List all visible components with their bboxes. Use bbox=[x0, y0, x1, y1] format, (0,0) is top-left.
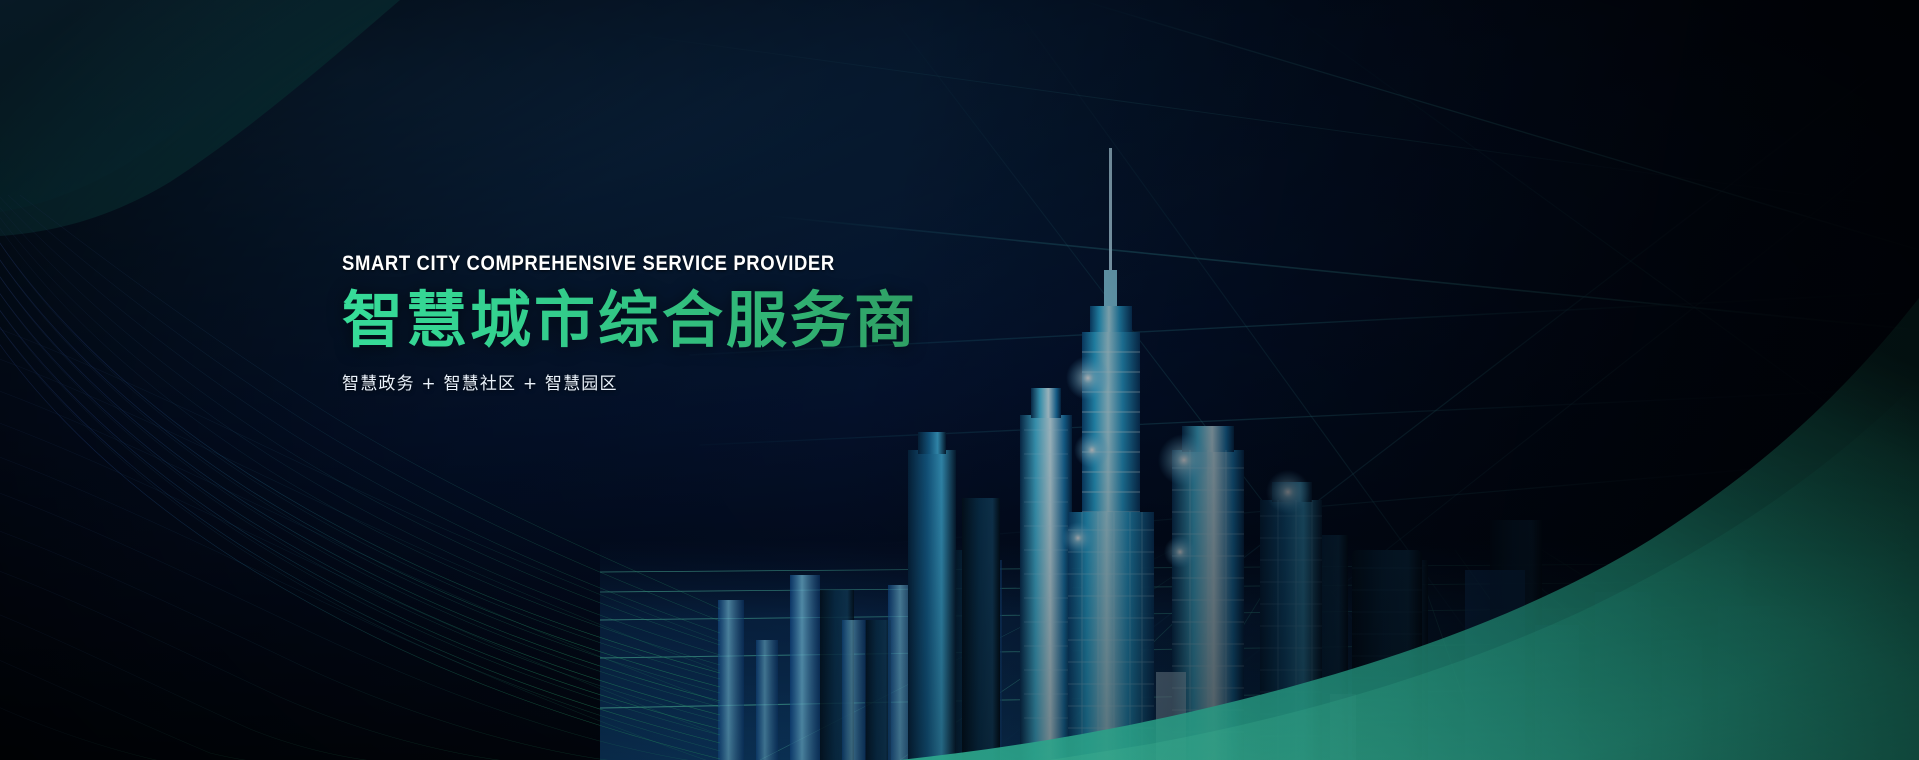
hero-headline: 智慧城市综合服务商 bbox=[342, 287, 1062, 355]
hero-eyebrow: SMART CITY COMPREHENSIVE SERVICE PROVIDE… bbox=[342, 252, 976, 275]
hero-banner: SMART CITY COMPREHENSIVE SERVICE PROVIDE… bbox=[0, 0, 1919, 760]
hero-subline: 智慧政务 + 智慧社区 + 智慧园区 bbox=[342, 369, 1062, 394]
hero-copy: SMART CITY COMPREHENSIVE SERVICE PROVIDE… bbox=[342, 252, 1062, 394]
